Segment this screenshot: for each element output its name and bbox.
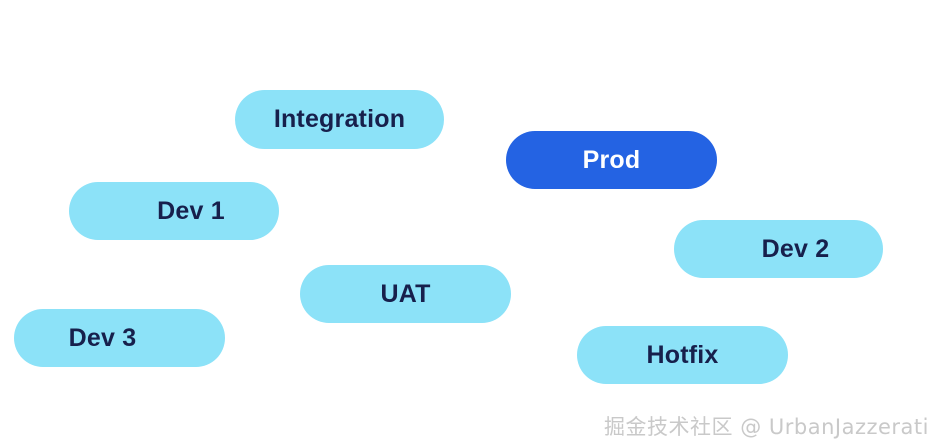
node-uat[interactable]: UAT (300, 265, 511, 323)
node-dev-2[interactable]: Dev 2 (674, 220, 883, 278)
node-dev-1-label: Dev 1 (69, 197, 279, 226)
watermark-text: 掘金技术社区 @ UrbanJazzerati (604, 411, 929, 441)
node-prod-label: Prod (506, 146, 717, 175)
node-dev-2-label: Dev 2 (674, 235, 883, 264)
node-prod[interactable]: Prod (506, 131, 717, 189)
node-integration[interactable]: Integration (235, 90, 444, 149)
node-dev-1[interactable]: Dev 1 (69, 182, 279, 240)
node-hotfix[interactable]: Hotfix (577, 326, 788, 384)
node-hotfix-label: Hotfix (577, 341, 788, 370)
diagram-canvas: Integration Prod Dev 1 Dev 2 UAT Dev 3 H… (0, 0, 937, 447)
node-uat-label: UAT (300, 280, 511, 309)
node-dev-3-label: Dev 3 (14, 324, 225, 353)
node-dev-3[interactable]: Dev 3 (14, 309, 225, 367)
node-integration-label: Integration (235, 105, 444, 134)
